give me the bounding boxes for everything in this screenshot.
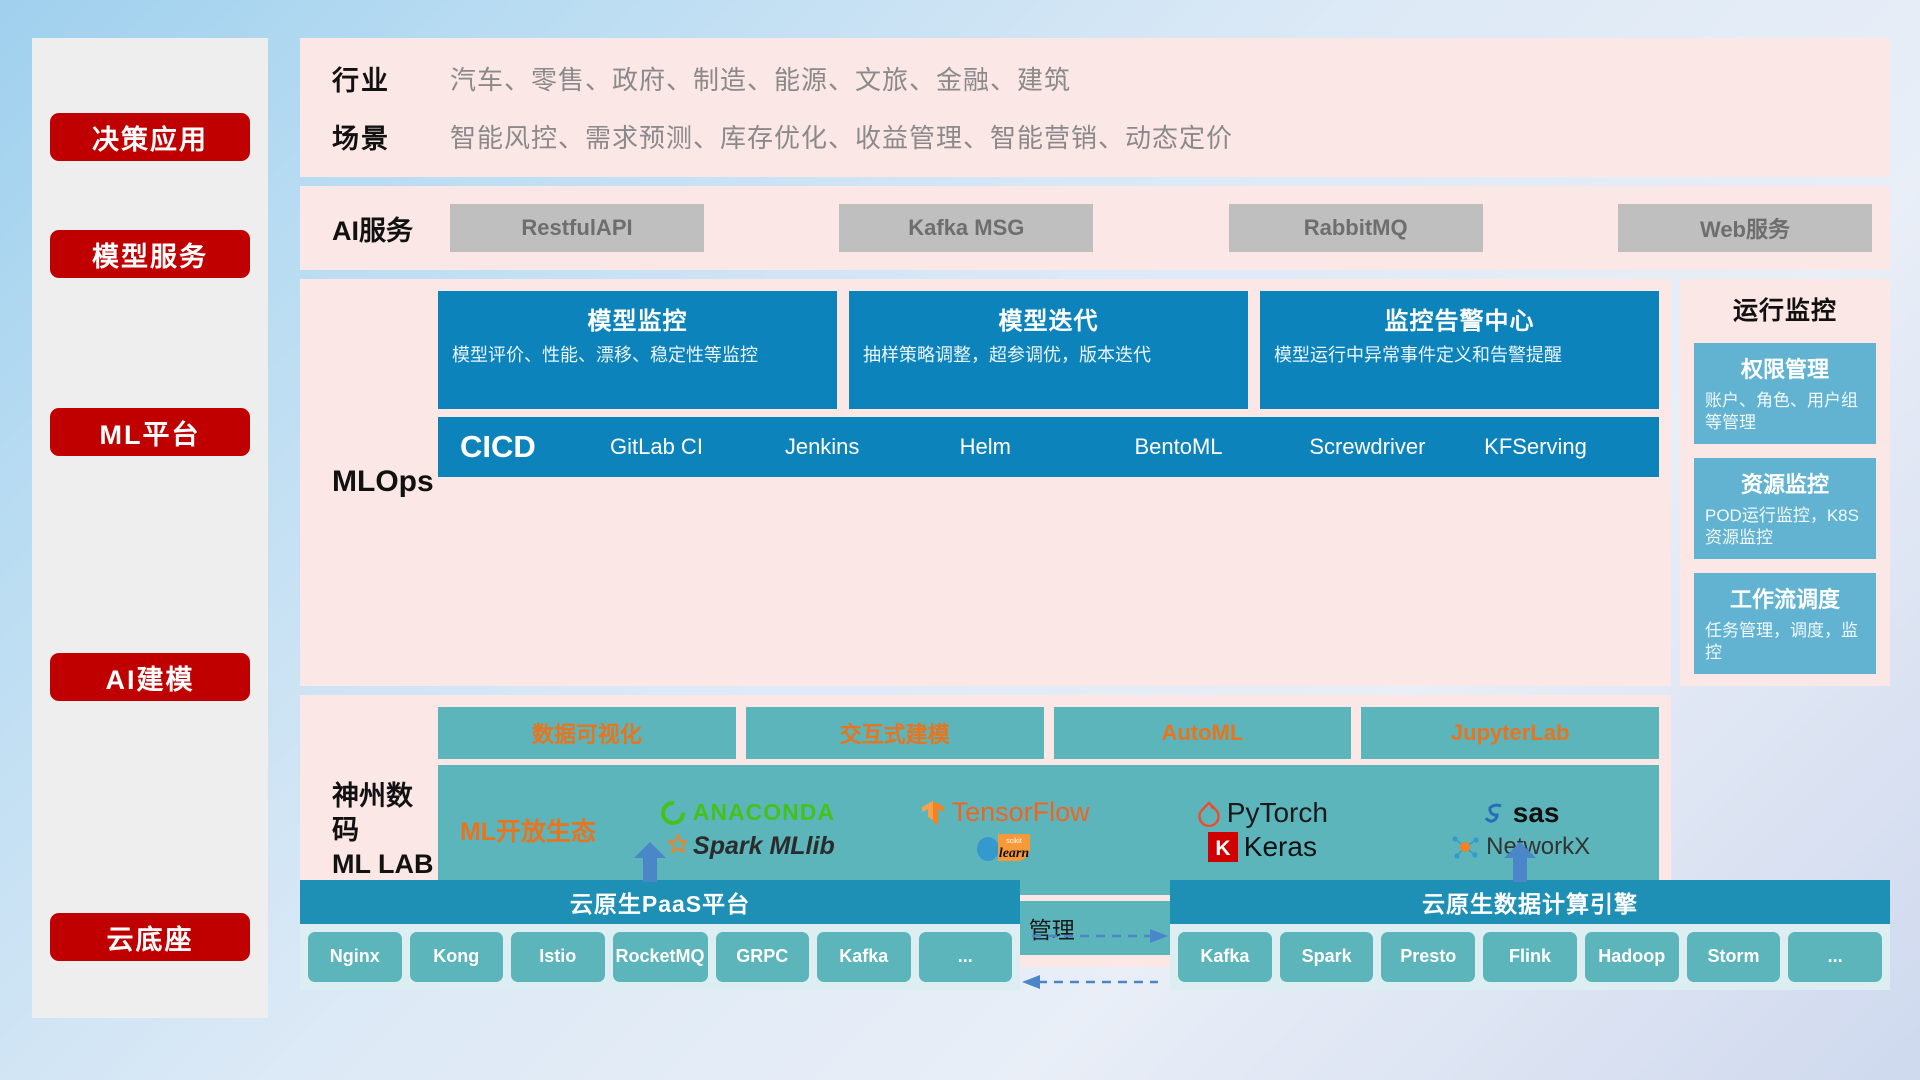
run-monitor-title: 运行监控 [1694, 291, 1876, 327]
rail-item-label: ML平台 [100, 413, 201, 452]
anaconda-icon [659, 799, 687, 827]
ml-lab-tool[interactable]: AutoML [1054, 707, 1352, 759]
ai-service-chip[interactable]: RabbitMQ [1229, 204, 1483, 252]
mlops-card[interactable]: 监控告警中心 模型运行中异常事件定义和告警提醒 [1260, 291, 1659, 409]
scenario-label: 场景 [332, 117, 450, 156]
ml-platform-row: MLOps 模型监控 模型评价、性能、漂移、稳定性等监控 模型迭代 抽样策略调整… [300, 279, 1890, 686]
run-monitor-card-workflow[interactable]: 工作流调度 任务管理，调度，监控 [1694, 573, 1876, 674]
compute-chip[interactable]: ... [1788, 932, 1882, 982]
rail-item-label: 模型服务 [92, 235, 208, 274]
bidirectional-link-arrows [1020, 920, 1170, 1000]
compute-title: 云原生数据计算引擎 [1170, 880, 1890, 924]
paas-chip-list: Nginx Kong Istio RocketMQ GRPC Kafka ... [300, 924, 1020, 990]
ai-service-chip-list: RestfulAPI Kafka MSG RabbitMQ Web服务 [450, 204, 1890, 252]
sas-logo: sas [1391, 797, 1649, 829]
tensorflow-label: TensorFlow [952, 797, 1090, 828]
anaconda-logo: ANACONDA [618, 799, 876, 827]
industry-label: 行业 [332, 59, 450, 98]
pytorch-icon [1197, 799, 1221, 827]
mlops-card[interactable]: 模型监控 模型评价、性能、漂移、稳定性等监控 [438, 291, 837, 409]
cicd-item[interactable]: Jenkins [785, 435, 960, 458]
industry-line: 行业 汽车、零售、政府、制造、能源、文旅、金融、建筑 [332, 50, 1890, 108]
paas-column: 云原生PaaS平台 Nginx Kong Istio RocketMQ GRPC… [300, 880, 1020, 990]
cicd-item[interactable]: Helm [960, 435, 1135, 458]
svg-text:learn: learn [998, 846, 1029, 861]
ml-lab-tool[interactable]: JupyterLab [1361, 707, 1659, 759]
sas-label: sas [1513, 797, 1560, 829]
compute-chip[interactable]: Kafka [1178, 932, 1272, 982]
mlops-card-desc: 模型评价、性能、漂移、稳定性等监控 [452, 343, 823, 367]
ml-lab-tool-list: 数据可视化 交互式建模 AutoML JupyterLab [438, 707, 1659, 759]
rail-item-ai-modeling[interactable]: AI建模 [50, 653, 250, 701]
cicd-item[interactable]: Screwdriver [1309, 435, 1484, 458]
paas-chip[interactable]: RocketMQ [613, 932, 708, 982]
svg-text:scikit: scikit [1006, 838, 1022, 845]
rm-card-title: 工作流调度 [1705, 582, 1865, 614]
ai-service-chip[interactable]: RestfulAPI [450, 204, 704, 252]
scenario-value: 智能风控、需求预测、库存优化、收益管理、智能营销、动态定价 [450, 118, 1233, 155]
mlops-card-list: 模型监控 模型评价、性能、漂移、稳定性等监控 模型迭代 抽样策略调整，超参调优，… [438, 291, 1659, 409]
paas-chip[interactable]: ... [919, 932, 1013, 982]
compute-chip[interactable]: Storm [1687, 932, 1781, 982]
tensorflow-logo: TensorFlow [876, 797, 1134, 828]
ai-service-row: AI服务 RestfulAPI Kafka MSG RabbitMQ Web服务 [300, 186, 1890, 270]
mlops-card-title: 模型迭代 [863, 301, 1234, 336]
architecture-main: 行业 汽车、零售、政府、制造、能源、文旅、金融、建筑 场景 智能风控、需求预测、… [300, 38, 1890, 967]
compute-chip[interactable]: Presto [1381, 932, 1475, 982]
rm-card-desc: 账户、角色、用户组等管理 [1705, 390, 1865, 435]
cicd-bar: CICD GitLab CI Jenkins Helm BentoML Scre… [438, 417, 1659, 477]
compute-chip[interactable]: Spark [1280, 932, 1374, 982]
ml-eco-row: ML开放生态 ANACONDA [438, 765, 1659, 895]
cicd-item[interactable]: KFServing [1484, 435, 1659, 458]
ml-lab-label-line2: ML LAB [332, 848, 438, 882]
compute-engine-column: 云原生数据计算引擎 Kafka Spark Presto Flink Hadoo… [1170, 880, 1890, 990]
tensorflow-icon [920, 799, 946, 827]
rail-item-label: 云底座 [107, 918, 194, 957]
rail-item-model-service[interactable]: 模型服务 [50, 230, 250, 278]
mlops-card-title: 模型监控 [452, 301, 823, 336]
paas-chip[interactable]: Kafka [817, 932, 911, 982]
sas-icon [1481, 799, 1507, 827]
cicd-title: CICD [460, 429, 610, 465]
mlops-content: 模型监控 模型评价、性能、漂移、稳定性等监控 模型迭代 抽样策略调整，超参调优，… [438, 291, 1659, 674]
ml-lab-tool[interactable]: 数据可视化 [438, 707, 736, 759]
run-monitor-card-permission[interactable]: 权限管理 账户、角色、用户组等管理 [1694, 343, 1876, 444]
scikit-learn-icon: scikit learn [974, 830, 1036, 864]
scenario-line: 场景 智能风控、需求预测、库存优化、收益管理、智能营销、动态定价 [332, 108, 1890, 166]
run-monitor-card-resource[interactable]: 资源监控 POD运行监控，K8S资源监控 [1694, 458, 1876, 559]
mlops-card-title: 监控告警中心 [1274, 301, 1645, 336]
keras-label: Keras [1244, 831, 1317, 863]
mlops-card-desc: 抽样策略调整，超参调优，版本迭代 [863, 343, 1234, 367]
mlops-card[interactable]: 模型迭代 抽样策略调整，超参调优，版本迭代 [849, 291, 1248, 409]
run-monitor-panel: 运行监控 权限管理 账户、角色、用户组等管理 资源监控 POD运行监控，K8S资… [1680, 279, 1890, 686]
up-arrow-paas-icon [630, 842, 670, 882]
ml-lab-label-line1: 神州数码 [332, 780, 438, 848]
pytorch-label: PyTorch [1227, 797, 1328, 829]
pytorch-logo: PyTorch [1134, 797, 1392, 829]
rm-card-title: 资源监控 [1705, 467, 1865, 499]
up-arrow-compute-icon [1500, 842, 1540, 882]
mlops-section: MLOps 模型监控 模型评价、性能、漂移、稳定性等监控 模型迭代 抽样策略调整… [300, 279, 1671, 686]
mlops-label: MLOps [332, 291, 438, 674]
ml-eco-title: ML开放生态 [438, 812, 618, 848]
ml-lab-tool[interactable]: 交互式建模 [746, 707, 1044, 759]
cicd-item-list: GitLab CI Jenkins Helm BentoML Screwdriv… [610, 435, 1659, 458]
ai-service-label: AI服务 [332, 209, 450, 248]
ai-service-chip[interactable]: Web服务 [1618, 204, 1872, 252]
keras-icon: K [1208, 832, 1238, 862]
paas-chip[interactable]: GRPC [716, 932, 810, 982]
rail-item-label: AI建模 [106, 658, 195, 697]
rm-card-desc: POD运行监控，K8S资源监控 [1705, 505, 1865, 550]
decision-app-row: 行业 汽车、零售、政府、制造、能源、文旅、金融、建筑 场景 智能风控、需求预测、… [300, 38, 1890, 177]
paas-chip[interactable]: Istio [511, 932, 605, 982]
cicd-item[interactable]: GitLab CI [610, 435, 785, 458]
scikit-learn-logo: scikit learn [876, 830, 1134, 864]
rail-item-label: 决策应用 [92, 118, 208, 157]
cicd-item[interactable]: BentoML [1134, 435, 1309, 458]
compute-chip-list: Kafka Spark Presto Flink Hadoop Storm ..… [1170, 924, 1890, 990]
spark-mllib-label: Spark MLlib [693, 832, 835, 861]
paas-chip[interactable]: Kong [410, 932, 504, 982]
compute-chip[interactable]: Flink [1483, 932, 1577, 982]
compute-chip[interactable]: Hadoop [1585, 932, 1679, 982]
rail-item-decision-app[interactable]: 决策应用 [50, 113, 250, 161]
rm-card-title: 权限管理 [1705, 352, 1865, 384]
cloud-base-row: 云原生PaaS平台 Nginx Kong Istio RocketMQ GRPC… [300, 880, 1890, 990]
layer-rail: 决策应用 模型服务 ML平台 AI建模 云底座 [32, 38, 268, 1018]
rail-item-ml-platform[interactable]: ML平台 [50, 408, 250, 456]
svg-text:K: K [1215, 837, 1230, 860]
ai-service-chip[interactable]: Kafka MSG [839, 204, 1093, 252]
networkx-icon [1450, 833, 1480, 861]
rm-card-desc: 任务管理，调度，监控 [1705, 620, 1865, 665]
rail-item-cloud-base[interactable]: 云底座 [50, 913, 250, 961]
industry-value: 汽车、零售、政府、制造、能源、文旅、金融、建筑 [450, 60, 1071, 97]
keras-logo: K Keras [1134, 831, 1392, 863]
paas-chip[interactable]: Nginx [308, 932, 402, 982]
mlops-card-desc: 模型运行中异常事件定义和告警提醒 [1274, 343, 1645, 367]
paas-title: 云原生PaaS平台 [300, 880, 1020, 924]
anaconda-label: ANACONDA [693, 799, 835, 826]
